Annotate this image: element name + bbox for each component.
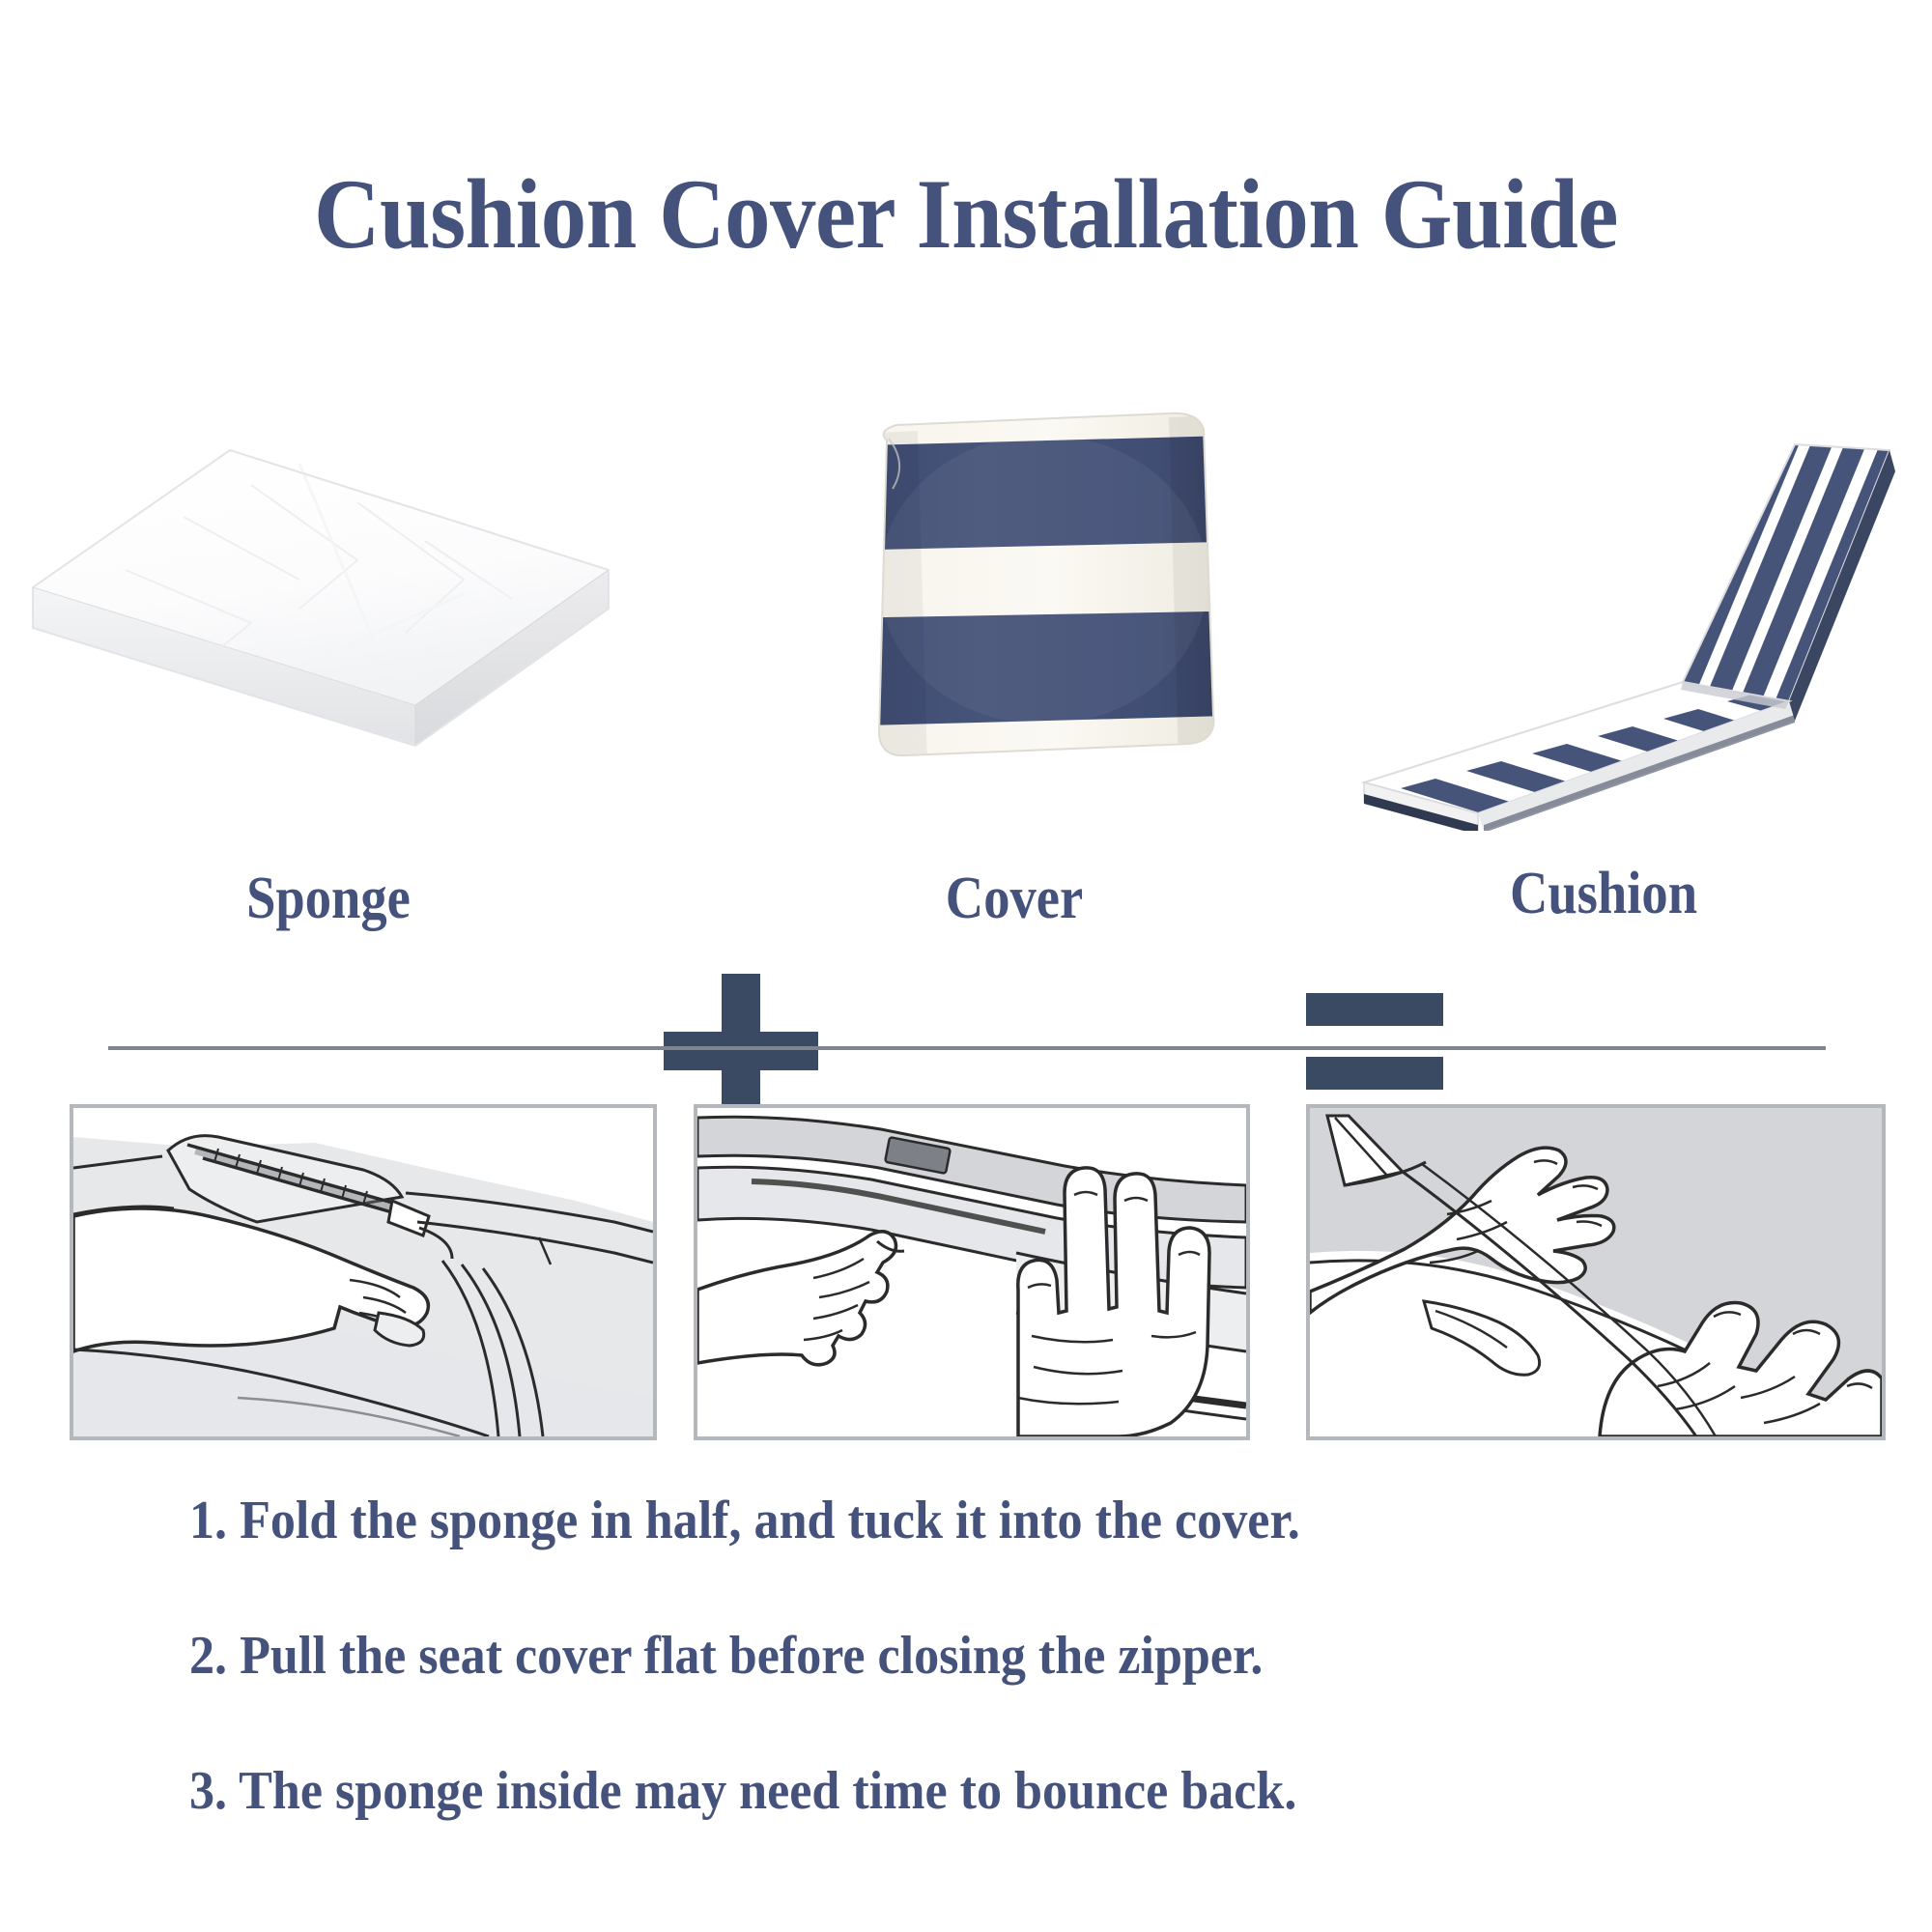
instruction-line-3: 3. The sponge inside may need time to bo…: [189, 1760, 1296, 1822]
instruction-panel-3: [1306, 1104, 1886, 1440]
section-divider: [108, 1046, 1826, 1050]
instruction-panel-2: [694, 1104, 1250, 1440]
page-title: Cushion Cover Installation Guide: [77, 157, 1855, 271]
equation-row: [0, 415, 1932, 821]
cushion-image: [1343, 415, 1922, 831]
label-sponge: Sponge: [40, 865, 617, 933]
cover-image: [850, 396, 1256, 802]
instruction-line-2: 2. Pull the seat cover flat before closi…: [189, 1625, 1263, 1687]
instruction-line-1: 1. Fold the sponge in half, and tuck it …: [189, 1490, 1300, 1551]
label-cushion: Cushion: [1366, 860, 1842, 928]
sponge-image: [10, 425, 647, 811]
label-cover: Cover: [802, 865, 1227, 933]
instruction-panels: [0, 1104, 1932, 1442]
instruction-panel-1: [70, 1104, 657, 1440]
